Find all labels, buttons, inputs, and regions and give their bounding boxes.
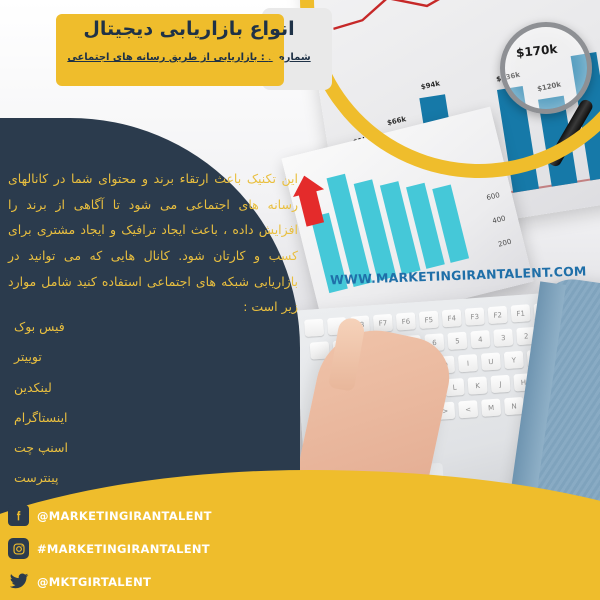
list-item: لینکدین — [8, 373, 293, 403]
key: F1 — [511, 304, 531, 322]
key: F4 — [442, 309, 462, 327]
key: F7 — [373, 314, 393, 332]
key: 5 — [447, 332, 467, 350]
key: K — [467, 376, 487, 394]
social-handle: @MARKETINGIRANTALENT — [37, 509, 212, 523]
key: 3 — [493, 328, 513, 346]
channel-list: فیس بوک توییتر لینکدین اینستاگرام اسنپ چ… — [8, 312, 293, 494]
key: F3 — [465, 307, 485, 325]
twitter-icon — [8, 571, 29, 592]
list-item: توییتر — [8, 342, 293, 372]
list-item: فیس بوک — [8, 312, 293, 342]
poster-canvas: $1k $66k $94k $75k $136k $120k — [0, 0, 600, 600]
header-banner: انواع بازاریابی دیجیتال شماره 3 : بازاری… — [56, 8, 332, 90]
social-links: @MARKETINGIRANTALENT #MARKETINGIRANTALEN… — [8, 505, 212, 592]
list-item: اسنپ چت — [8, 433, 293, 463]
key: < — [458, 400, 478, 418]
list-item: پینترست — [8, 463, 293, 493]
key: J — [490, 375, 510, 393]
key: F2 — [488, 306, 508, 324]
key: I — [458, 354, 478, 372]
social-row-instagram[interactable]: #MARKETINGIRANTALENT — [8, 538, 212, 559]
key: 4 — [470, 330, 490, 348]
social-handle: @MKTGIRTALENT — [37, 575, 151, 589]
key: M — [481, 399, 501, 417]
facebook-icon — [8, 505, 29, 526]
key: F6 — [396, 312, 416, 330]
instagram-icon — [8, 538, 29, 559]
body-paragraph: این تکنیک باعث ارتقاء برند و محتوای شما … — [8, 166, 298, 320]
key: Y — [504, 351, 524, 369]
social-handle: #MARKETINGIRANTALENT — [37, 542, 210, 556]
key: F5 — [419, 311, 439, 329]
list-item: اینستاگرام — [8, 403, 293, 433]
social-row-twitter[interactable]: @MKTGIRTALENT — [8, 571, 212, 592]
social-row-facebook[interactable]: @MARKETINGIRANTALENT — [8, 505, 212, 526]
y-tick-label: 200 — [497, 238, 512, 249]
y-tick-label: 400 — [492, 214, 507, 225]
key — [304, 319, 324, 337]
page-title: انواع بازاریابی دیجیتال — [56, 18, 322, 40]
key: U — [481, 352, 501, 370]
y-tick-label: 600 — [486, 191, 501, 202]
